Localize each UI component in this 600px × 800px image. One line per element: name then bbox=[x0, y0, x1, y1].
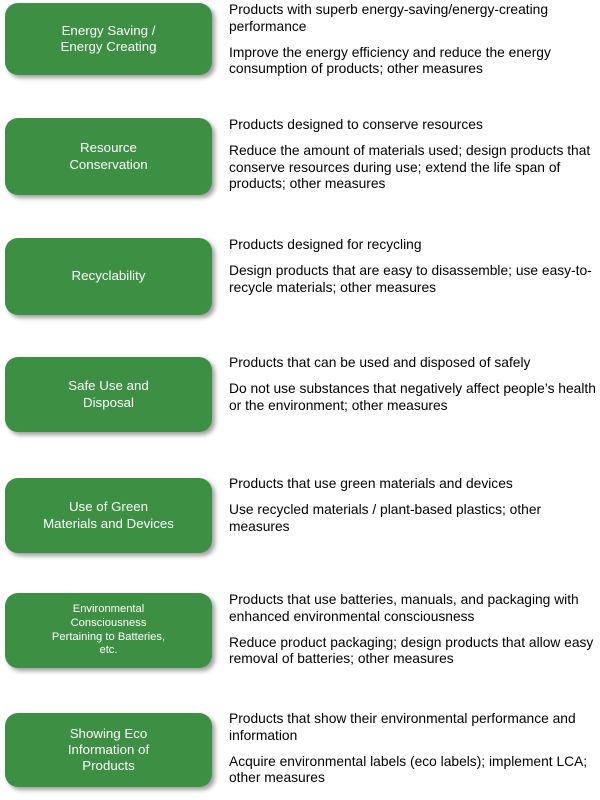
eco-criteria-diagram: Energy Saving / Energy CreatingProducts … bbox=[0, 0, 600, 800]
criteria-label-box-showing-eco-information-of-products[interactable]: Showing Eco Information of Products bbox=[5, 713, 212, 787]
criteria-label-box-safe-use-and-disposal[interactable]: Safe Use and Disposal bbox=[5, 357, 212, 432]
criteria-label-text: Use of Green Materials and Devices bbox=[13, 499, 204, 531]
criteria-label-text: Resource Conservation bbox=[13, 140, 204, 172]
criteria-label-text: Recyclability bbox=[13, 268, 204, 284]
criteria-description-column-safe-use-and-disposal: Products that can be used and disposed o… bbox=[229, 355, 597, 414]
criteria-measures-text: Do not use substances that negatively af… bbox=[229, 381, 597, 415]
criteria-measures-text: Reduce product packaging; design product… bbox=[229, 635, 597, 669]
criteria-measures-text: Reduce the amount of materials used; des… bbox=[229, 143, 597, 193]
criteria-label-box-energy-saving-energy-creating[interactable]: Energy Saving / Energy Creating bbox=[5, 3, 212, 75]
criteria-label-text: Energy Saving / Energy Creating bbox=[13, 23, 204, 55]
criteria-description-column-use-of-green-materials-and-devices: Products that use green materials and de… bbox=[229, 476, 597, 535]
criteria-description-column-recyclability: Products designed for recyclingDesign pr… bbox=[229, 237, 597, 296]
criteria-definition-text: Products designed to conserve resources bbox=[229, 117, 597, 134]
criteria-measures-text: Use recycled materials / plant-based pla… bbox=[229, 502, 597, 536]
criteria-definition-text: Products with superb energy-saving/energ… bbox=[229, 2, 597, 36]
criteria-label-box-environmental-consciousness-batteries[interactable]: Environmental Consciousness Pertaining t… bbox=[5, 593, 212, 668]
criteria-label-text: Environmental Consciousness Pertaining t… bbox=[13, 603, 204, 658]
criteria-definition-text: Products designed for recycling bbox=[229, 237, 597, 254]
criteria-label-text: Showing Eco Information of Products bbox=[13, 726, 204, 775]
criteria-measures-text: Acquire environmental labels (eco labels… bbox=[229, 754, 597, 788]
criteria-definition-text: Products that can be used and disposed o… bbox=[229, 355, 597, 372]
criteria-measures-text: Design products that are easy to disasse… bbox=[229, 263, 597, 297]
criteria-label-text: Safe Use and Disposal bbox=[13, 378, 204, 410]
criteria-description-column-energy-saving-energy-creating: Products with superb energy-saving/energ… bbox=[229, 2, 597, 78]
criteria-description-column-showing-eco-information-of-products: Products that show their environmental p… bbox=[229, 711, 597, 787]
criteria-measures-text: Improve the energy efficiency and reduce… bbox=[229, 45, 597, 79]
criteria-label-box-resource-conservation[interactable]: Resource Conservation bbox=[5, 118, 212, 195]
criteria-definition-text: Products that use batteries, manuals, an… bbox=[229, 592, 597, 626]
criteria-description-column-resource-conservation: Products designed to conserve resourcesR… bbox=[229, 117, 597, 193]
criteria-label-box-use-of-green-materials-and-devices[interactable]: Use of Green Materials and Devices bbox=[5, 478, 212, 553]
criteria-definition-text: Products that show their environmental p… bbox=[229, 711, 597, 745]
criteria-description-column-environmental-consciousness-batteries: Products that use batteries, manuals, an… bbox=[229, 592, 597, 668]
criteria-label-box-recyclability[interactable]: Recyclability bbox=[5, 238, 212, 315]
criteria-definition-text: Products that use green materials and de… bbox=[229, 476, 597, 493]
